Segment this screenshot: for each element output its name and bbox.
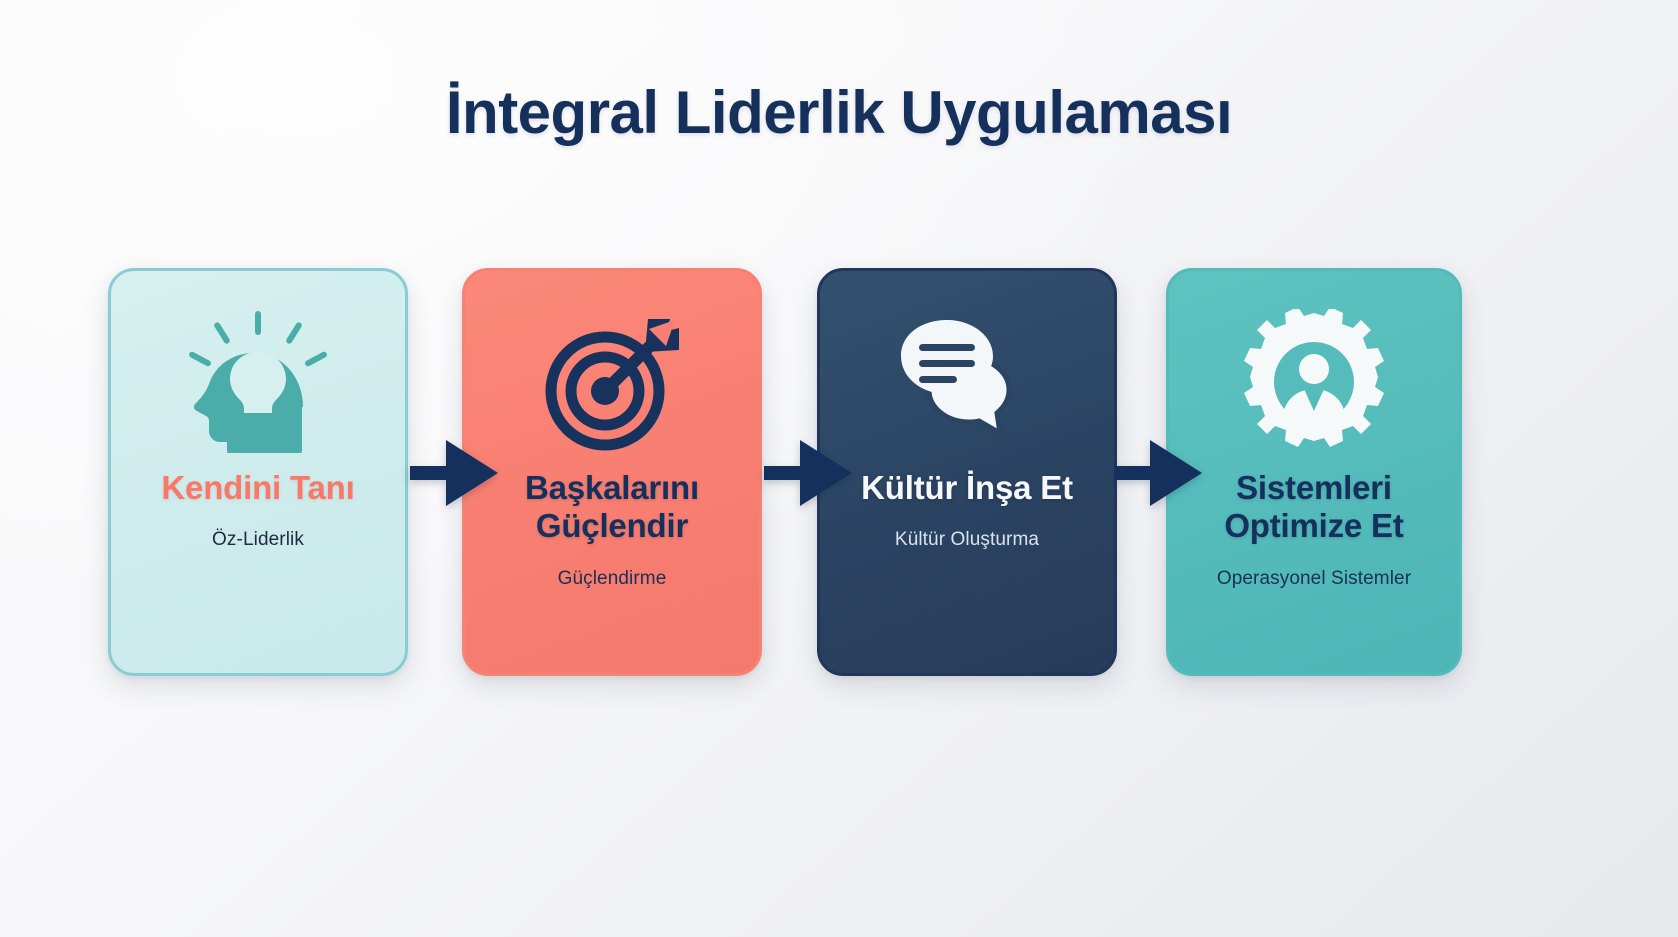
flow-step-title: Sistemleri Optimize Et	[1169, 469, 1459, 546]
target-arrow-icon	[537, 307, 687, 457]
flow-step-title: Kültür İnşa Et	[851, 469, 1083, 507]
flow-step-kendini-tani[interactable]: Kendini Tanı Öz-Liderlik	[108, 268, 408, 676]
flow-step-title: Başkalarını Güçlendir	[465, 469, 759, 546]
page-title: İntegral Liderlik Uygulaması	[0, 78, 1678, 147]
flow-step-subtitle: Kültür Oluşturma	[895, 529, 1039, 551]
flow-step-subtitle: Operasyonel Sistemler	[1217, 568, 1411, 590]
flow-step-baskalarini-guclendir[interactable]: Başkalarını Güçlendir Güçlendirme	[462, 268, 762, 676]
flow-step-title: Kendini Tanı	[151, 469, 364, 507]
gear-person-icon	[1241, 307, 1387, 457]
right-arrow-icon	[406, 436, 502, 510]
flow-step-sistemleri-optimize-et[interactable]: Sistemleri Optimize Et Operasyonel Siste…	[1166, 268, 1462, 676]
flow-step-subtitle: Öz-Liderlik	[212, 529, 304, 551]
speech-bubbles-icon	[891, 307, 1043, 457]
process-flow: Kendini Tanı Öz-Liderlik	[108, 268, 1570, 680]
flow-step-subtitle: Güçlendirme	[558, 568, 667, 590]
head-lightbulb-icon	[185, 307, 331, 457]
flow-step-kultur-insa-et[interactable]: Kültür İnşa Et Kültür Oluşturma	[817, 268, 1117, 676]
right-arrow-icon	[1110, 436, 1206, 510]
infographic-canvas: İntegral Liderlik Uygulaması	[0, 0, 1678, 937]
right-arrow-icon	[760, 436, 856, 510]
